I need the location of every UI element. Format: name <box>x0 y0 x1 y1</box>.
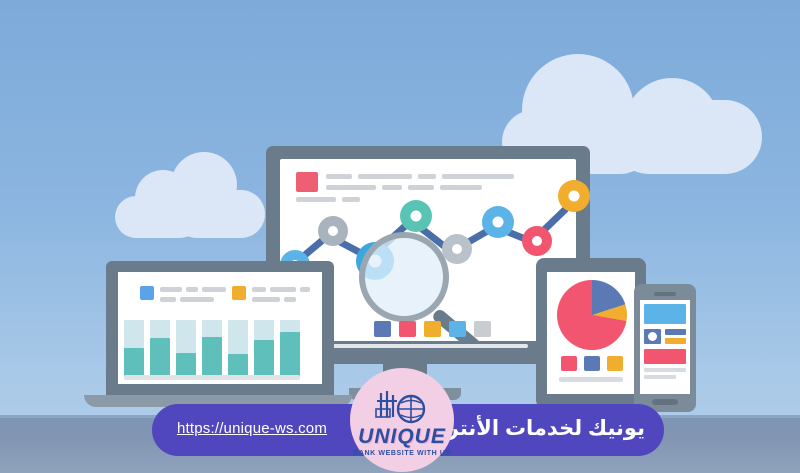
phone-content <box>644 304 686 386</box>
color-swatch <box>561 356 577 371</box>
illustration-scene: https://unique-ws.com يونيك لخدمات الأنت… <box>0 0 800 473</box>
placeholder-line <box>160 297 176 302</box>
footer-line <box>644 375 676 379</box>
banner-arabic-tagline: يونيك لخدمات الأنترنت <box>445 416 645 441</box>
color-swatch <box>584 356 600 371</box>
footer-line <box>644 368 686 372</box>
text-line <box>665 329 686 335</box>
laptop-chart-axis <box>124 375 300 380</box>
feature-block <box>644 349 686 364</box>
placeholder-line <box>202 287 226 292</box>
logo-tagline: RANK WEBSITE WITH US <box>353 450 451 457</box>
cloud-left <box>115 152 265 238</box>
laptop-legend <box>140 286 310 310</box>
magnifier-lens <box>359 232 449 322</box>
bar-fill <box>202 337 222 376</box>
placeholder-line <box>270 287 296 292</box>
cloud-puff <box>624 78 720 174</box>
placeholder-line <box>160 287 182 292</box>
legend-swatch-blue <box>140 286 154 300</box>
data-point <box>400 200 432 232</box>
color-swatch <box>399 321 416 337</box>
placeholder-line <box>180 297 214 302</box>
bar-fill <box>150 338 170 376</box>
monitor-swatch-row <box>374 321 494 337</box>
placeholder-line <box>284 297 296 302</box>
bar-fill <box>124 348 144 376</box>
phone-home-button[interactable] <box>652 399 678 405</box>
data-point <box>558 180 590 212</box>
data-point <box>522 226 552 256</box>
bar-fill <box>176 353 196 376</box>
placeholder-line <box>252 297 280 302</box>
tablet-footer-rule <box>559 377 623 382</box>
avatar-circle-icon <box>648 332 657 341</box>
tablet-swatch-row <box>561 356 623 372</box>
data-point <box>482 206 514 238</box>
color-swatch <box>474 321 491 337</box>
tablet-pie-chart <box>557 280 627 350</box>
hero-banner <box>644 304 686 324</box>
legend-swatch-orange <box>232 286 246 300</box>
color-swatch <box>424 321 441 337</box>
phone-speaker <box>654 292 676 296</box>
data-point <box>318 216 348 246</box>
magnifying-glass[interactable] <box>359 232 449 322</box>
placeholder-line <box>300 287 310 292</box>
bar-fill <box>280 332 300 376</box>
laptop-bar-chart <box>124 320 302 376</box>
color-swatch <box>449 321 466 337</box>
placeholder-line <box>252 287 266 292</box>
logo-wordmark: UNIQUE <box>358 426 446 447</box>
placeholder-line <box>186 287 198 292</box>
cta-block <box>665 338 686 344</box>
bar-fill <box>228 354 248 376</box>
color-swatch <box>607 356 623 371</box>
unique-logo[interactable]: UNIQUE RANK WEBSITE WITH US <box>350 368 454 472</box>
logo-emblem-icon <box>373 387 431 425</box>
website-url-link[interactable]: https://unique-ws.com <box>172 420 332 437</box>
color-swatch <box>374 321 391 337</box>
bar-fill <box>254 340 274 376</box>
cloud-puff <box>171 152 237 218</box>
